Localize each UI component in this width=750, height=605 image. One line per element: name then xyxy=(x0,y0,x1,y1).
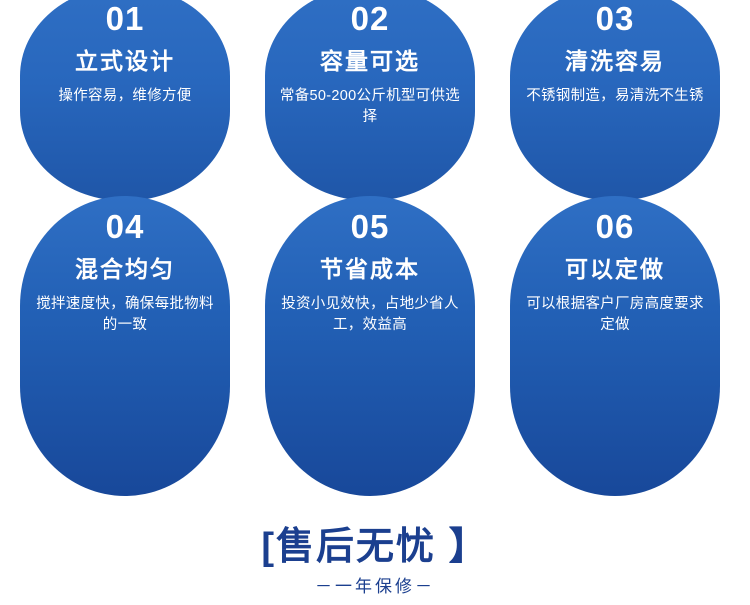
feature-card-03-description: 不锈钢制造，易清洗不生锈 xyxy=(510,86,720,107)
feature-card-05-title: 节省成本 xyxy=(265,255,475,285)
feature-card-02: 02 容量可选 常备50-200公斤机型可供选择 xyxy=(265,0,475,201)
feature-card-03: 03 清洗容易 不锈钢制造，易清洗不生锈 xyxy=(510,0,720,201)
feature-card-02-description: 常备50-200公斤机型可供选择 xyxy=(265,86,475,128)
feature-card-03-content: 03 清洗容易 不锈钢制造，易清洗不生锈 xyxy=(510,0,720,107)
feature-card-06: 06 可以定做 可以根据客户厂房高度要求定做 xyxy=(510,196,720,496)
feature-card-05-description: 投资小见效快，占地少省人工，效益高 xyxy=(265,294,475,336)
feature-card-04-content: 04 混合均匀 搅拌速度快，确保每批物料的一致 xyxy=(20,196,230,336)
feature-card-03-number: 03 xyxy=(510,0,720,39)
feature-cards: 01 立式设计 操作容易，维修方便 02 容量可选 常备50-200公斤机型可供… xyxy=(0,0,750,500)
feature-card-01-number: 01 xyxy=(20,0,230,39)
feature-card-02-content: 02 容量可选 常备50-200公斤机型可供选择 xyxy=(265,0,475,128)
feature-card-03-title: 清洗容易 xyxy=(510,47,720,77)
feature-card-06-title: 可以定做 xyxy=(510,255,720,285)
feature-card-01: 01 立式设计 操作容易，维修方便 xyxy=(20,0,230,201)
feature-card-04-number: 04 xyxy=(20,206,230,247)
feature-card-04: 04 混合均匀 搅拌速度快，确保每批物料的一致 xyxy=(20,196,230,496)
feature-card-06-number: 06 xyxy=(510,206,720,247)
footer-banner: [售后无忧 】 －一年保修－ xyxy=(0,527,750,597)
footer-headline: [售后无忧 】 xyxy=(0,527,750,569)
feature-card-02-number: 02 xyxy=(265,0,475,39)
feature-card-04-description: 搅拌速度快，确保每批物料的一致 xyxy=(20,294,230,336)
feature-card-06-description: 可以根据客户厂房高度要求定做 xyxy=(510,294,720,336)
feature-card-04-title: 混合均匀 xyxy=(20,255,230,285)
feature-card-01-title: 立式设计 xyxy=(20,47,230,77)
feature-card-01-description: 操作容易，维修方便 xyxy=(20,86,230,107)
feature-card-01-content: 01 立式设计 操作容易，维修方便 xyxy=(20,0,230,107)
feature-grid-page: 01 立式设计 操作容易，维修方便 02 容量可选 常备50-200公斤机型可供… xyxy=(0,0,750,605)
feature-card-06-content: 06 可以定做 可以根据客户厂房高度要求定做 xyxy=(510,196,720,336)
feature-card-02-title: 容量可选 xyxy=(265,47,475,77)
footer-subline: －一年保修－ xyxy=(0,577,750,597)
feature-card-05: 05 节省成本 投资小见效快，占地少省人工，效益高 xyxy=(265,196,475,496)
feature-card-05-number: 05 xyxy=(265,206,475,247)
feature-card-05-content: 05 节省成本 投资小见效快，占地少省人工，效益高 xyxy=(265,196,475,336)
